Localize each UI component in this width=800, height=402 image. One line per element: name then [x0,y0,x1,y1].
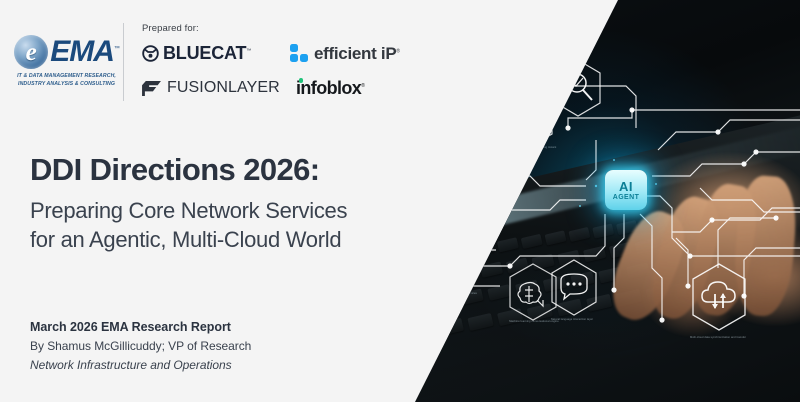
page-subtitle: Preparing Core Network Services for an A… [30,196,450,254]
sponsors-block: Prepared for: BLUECAT™ [124,23,440,101]
report-cover-page: AI-powered virtual assistant delivering … [0,0,800,402]
bluecat-cat-face-icon [142,45,159,62]
report-practice-line: Network Infrastructure and Operations [30,356,430,375]
efficientip-registered-mark: ® [396,48,399,54]
ema-logo-mark: EMA™ [14,35,119,69]
fusionlayer-wordmark: FUSIONLAYER [167,80,280,96]
speech-bubble-hexagon-icon [548,258,600,318]
infoblox-registered-mark: ® [361,83,364,89]
sponsor-efficientip[interactable]: efficient iP® [290,40,440,66]
fusionlayer-f-icon [142,80,161,97]
speech-bubble-hexagon-caption: Natural language interaction layer [542,318,602,321]
bluecat-wordmark: BLUECAT™ [163,44,251,62]
cloud-sync-hexagon-icon [688,262,750,334]
report-date-line: March 2026 EMA Research Report [30,318,430,337]
magnifier-hexagon-icon [552,58,604,118]
sponsor-infoblox[interactable]: infoblox® [290,75,440,101]
footer-block: March 2026 EMA Research Report By Shamus… [30,318,430,375]
sponsor-bluecat[interactable]: BLUECAT™ [142,40,290,66]
ema-wordmark: EMA™ [50,37,119,67]
ema-tagline: IT & DATA MANAGEMENT RESEARCH, INDUSTRY … [17,73,116,89]
infoblox-dot-icon [299,78,304,83]
ai-chip-line1: AI [619,180,633,193]
sponsor-fusionlayer[interactable]: FUSIONLAYER [142,75,290,101]
ema-trademark: ™ [114,46,119,52]
page-subtitle-line1: Preparing Core Network Services [30,196,450,225]
report-author-line: By Shamus McGillicuddy; VP of Research [30,337,430,356]
network-nodes-hexagon-caption: Distributed network automation services [422,292,482,295]
infoblox-wordmark: infoblox® [296,79,364,97]
efficientip-wordmark: efficient iP® [314,45,400,62]
robot-hexagon-icon [500,86,556,150]
page-subtitle-line2: for an Agentic, Multi-Cloud World [30,225,450,254]
cloud-sync-hexagon-caption: Multi-cloud data synchronization and tra… [688,336,748,339]
ema-logo: EMA™ IT & DATA MANAGEMENT RESEARCH, INDU… [0,35,119,89]
title-block: DDI Directions 2026: Preparing Core Netw… [30,152,450,254]
prepared-for-label: Prepared for: [142,23,440,34]
hero-image: AI-powered virtual assistant delivering … [400,0,800,402]
ai-agent-chip: AI AGENT [605,170,647,210]
ai-chip-line2: AGENT [613,194,640,201]
sponsor-logo-grid: BLUECAT™ efficient iP® [142,40,440,101]
ema-e-sphere-icon [14,35,48,69]
robot-hexagon-caption: AI-powered virtual assistant delivering … [498,146,558,152]
logo-header-row: EMA™ IT & DATA MANAGEMENT RESEARCH, INDU… [0,14,440,110]
ema-tagline-line2: INDUSTRY ANALYSIS & CONSULTING [17,81,116,89]
efficientip-squares-icon [290,44,308,62]
bluecat-trademark: ™ [246,48,251,54]
page-title: DDI Directions 2026: [30,152,450,189]
ema-tagline-line1: IT & DATA MANAGEMENT RESEARCH, [17,73,116,81]
